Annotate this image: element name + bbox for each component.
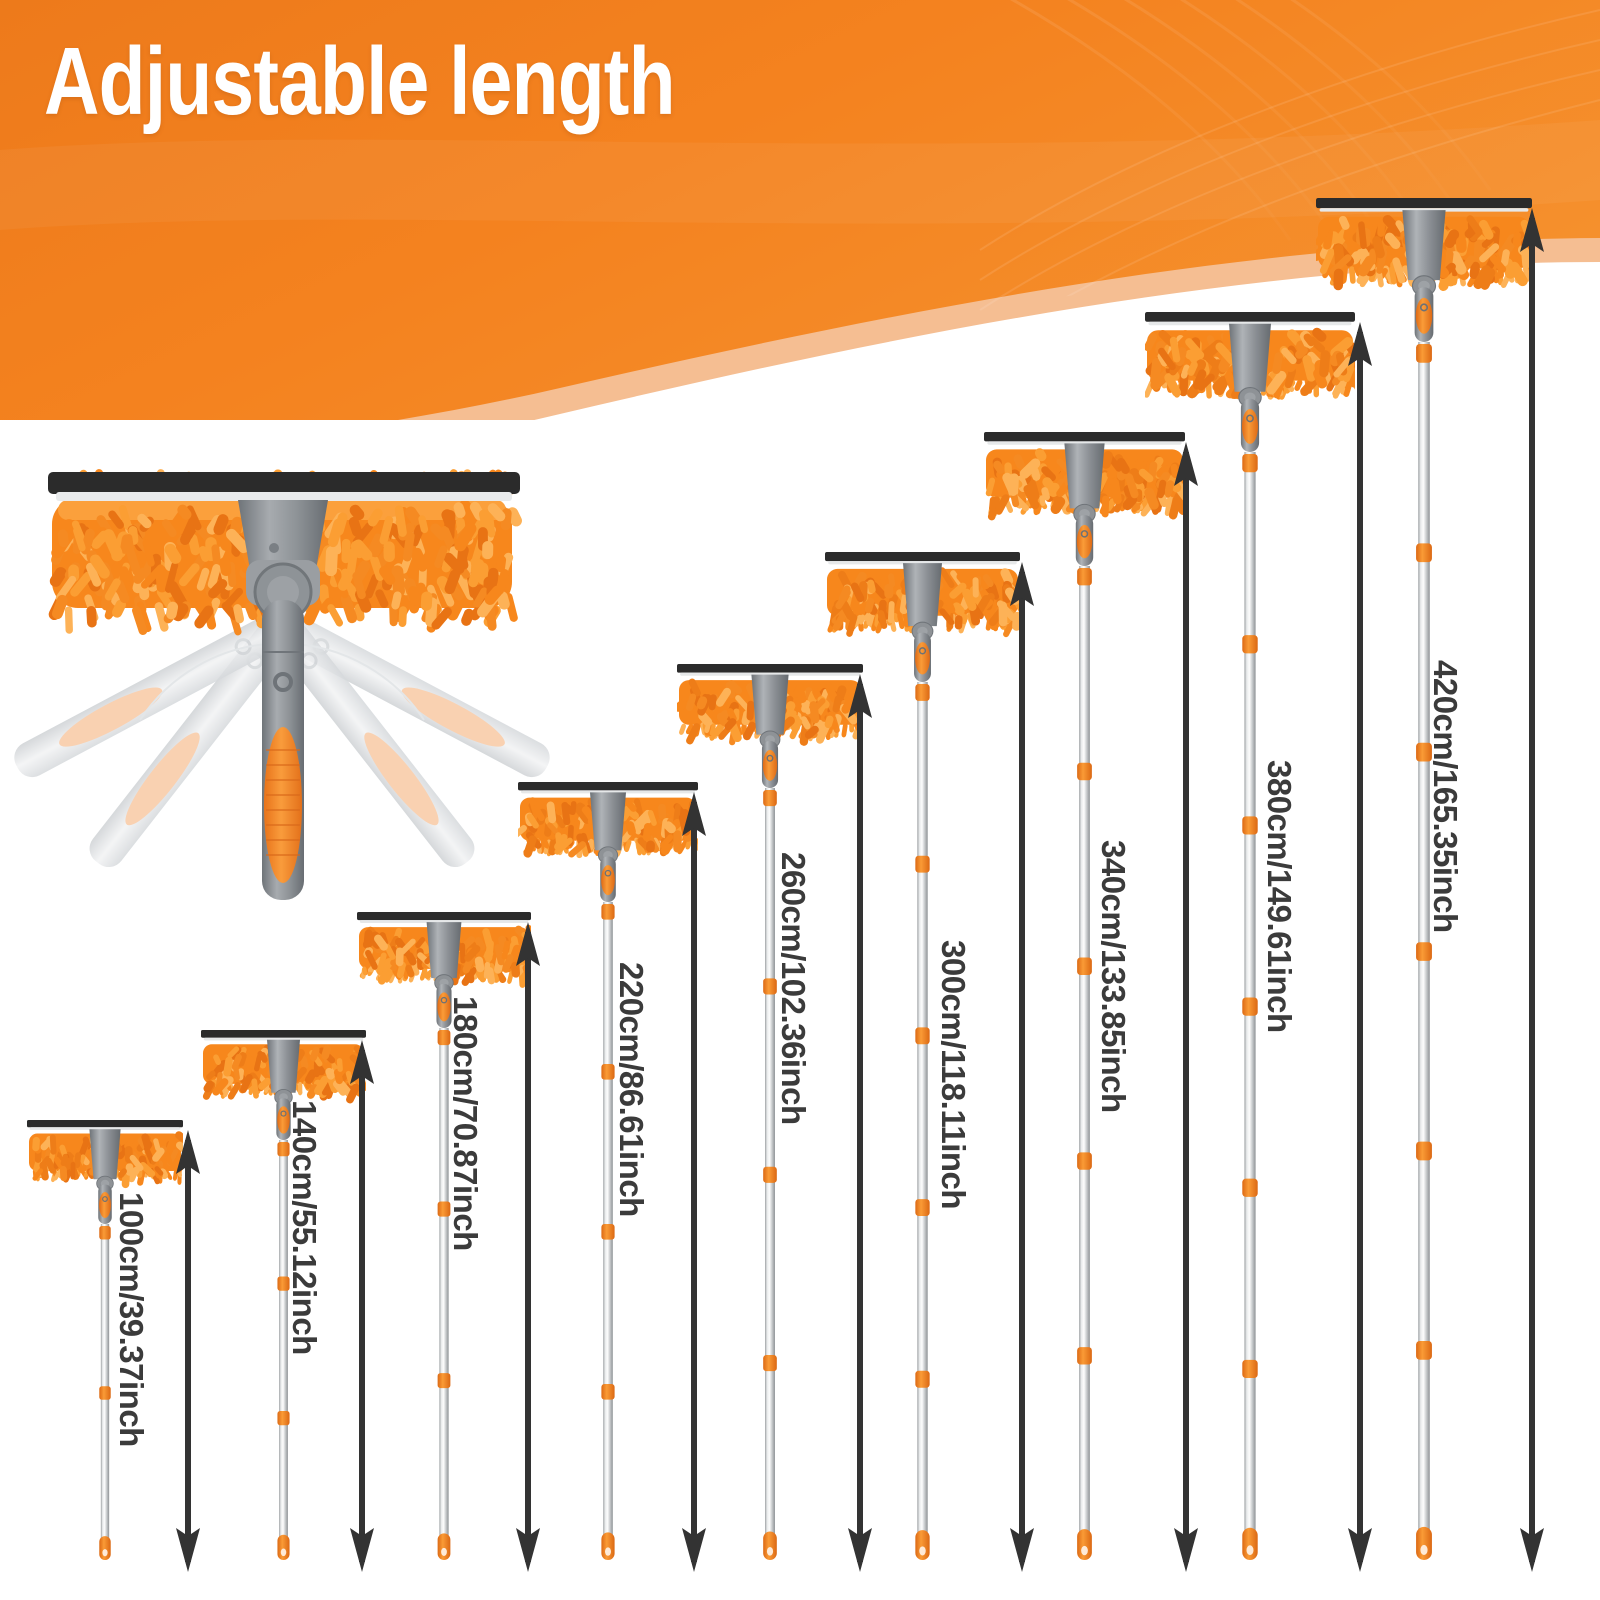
squeegee-100cm[interactable] <box>27 1120 183 1560</box>
squeegee-blade <box>1316 198 1532 212</box>
handle-grip <box>98 1184 112 1224</box>
telescoping-pole <box>99 1224 110 1560</box>
squeegee-180cm[interactable] <box>357 912 531 1560</box>
dimension-label-420cm: 420cm/165.35inch <box>1426 660 1464 933</box>
dimension-label-180cm: 180cm/70.87inch <box>446 996 484 1251</box>
telescoping-pole <box>1077 566 1092 1560</box>
squeegee-graphic <box>518 782 698 1560</box>
squeegee-blade <box>201 1030 366 1040</box>
squeegee-blade <box>357 912 531 923</box>
handle-grip <box>1241 399 1259 452</box>
telescoping-pole <box>1416 342 1432 1560</box>
handle-grip <box>762 741 778 788</box>
squeegee-420cm[interactable] <box>1316 198 1532 1560</box>
squeegee-220cm[interactable] <box>518 782 698 1560</box>
squeegee-blade <box>27 1120 183 1130</box>
dimension-label-300cm: 300cm/118.11inch <box>934 940 972 1209</box>
handle-grip <box>1415 287 1434 342</box>
handle-grip <box>1075 515 1092 566</box>
squeegee-graphic <box>357 912 531 1560</box>
double-headed-arrow <box>1510 208 1554 1572</box>
squeegee-graphic <box>27 1120 183 1560</box>
dimension-label-340cm: 340cm/133.85inch <box>1094 840 1132 1113</box>
dimension-label-260cm: 260cm/102.36inch <box>774 852 812 1125</box>
dimension-label-100cm: 100cm/39.37inch <box>112 1192 150 1447</box>
dimension-arrow-420cm <box>1510 208 1554 1577</box>
handle-grip <box>914 633 931 682</box>
squeegee-blade <box>518 782 698 793</box>
pivot-joint <box>89 1129 120 1190</box>
dimension-label-380cm: 380cm/149.61inch <box>1260 760 1298 1033</box>
squeegee-size-lineup: 100cm/39.37inch <box>0 0 1600 1600</box>
telescoping-pole <box>1242 452 1257 1560</box>
dimension-label-140cm: 140cm/55.12inch <box>285 1100 323 1355</box>
dimension-label-220cm: 220cm/86.61inch <box>612 962 650 1217</box>
telescoping-pole <box>915 682 929 1560</box>
squeegee-graphic <box>1316 198 1532 1560</box>
handle-grip <box>600 856 616 902</box>
